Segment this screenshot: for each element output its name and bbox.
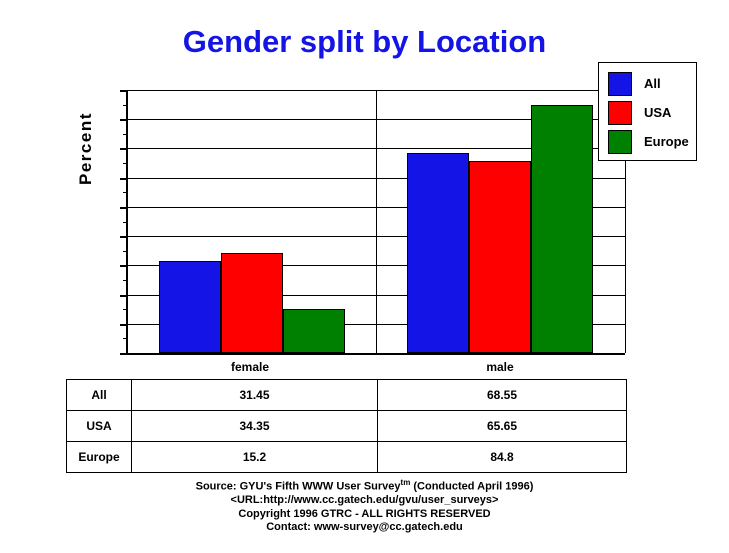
- legend-swatch-usa: [608, 101, 632, 125]
- bar-all-male[interactable]: [407, 153, 469, 353]
- table-row: Europe 15.2 84.8: [67, 442, 627, 473]
- footer-line-source: Source: GYU's Fifth WWW User Surveytm (C…: [0, 476, 729, 494]
- y-minor-tick-85: [123, 105, 128, 106]
- y-tick-90: [120, 90, 128, 92]
- legend-item-all[interactable]: All: [608, 71, 661, 96]
- y-tick-80: [120, 119, 128, 121]
- y-minor-tick-65: [123, 163, 128, 164]
- table-cell-europe-male: 84.8: [378, 442, 627, 473]
- bar-europe-female[interactable]: [283, 309, 345, 353]
- chart-legend: All USA Europe: [598, 62, 697, 161]
- y-tick-40: [120, 236, 128, 238]
- legend-label-europe: Europe: [644, 134, 689, 149]
- y-minor-tick-15: [123, 309, 128, 310]
- table-row-header-all: All: [67, 380, 132, 411]
- footer-line-contact: Contact: www-survey@cc.gatech.edu: [0, 521, 729, 535]
- category-divider: [376, 90, 377, 353]
- chart-plot-area: 0102030405060708090 Percent: [126, 90, 625, 355]
- y-minor-tick-25: [123, 280, 128, 281]
- y-minor-tick-5: [123, 338, 128, 339]
- table-cell-all-male: 68.55: [378, 380, 627, 411]
- legend-item-usa[interactable]: USA: [608, 100, 671, 125]
- table-cell-usa-female: 34.35: [132, 411, 378, 442]
- table-cell-usa-male: 65.65: [378, 411, 627, 442]
- table-row: USA 34.35 65.65: [67, 411, 627, 442]
- table-cell-europe-female: 15.2: [132, 442, 378, 473]
- y-minor-tick-75: [123, 134, 128, 135]
- y-tick-30: [120, 265, 128, 267]
- legend-swatch-europe: [608, 130, 632, 154]
- table-row-header-usa: USA: [67, 411, 132, 442]
- y-tick-20: [120, 295, 128, 297]
- bar-europe-male[interactable]: [531, 105, 593, 353]
- legend-swatch-all: [608, 72, 632, 96]
- y-tick-0: [120, 353, 128, 355]
- y-minor-tick-35: [123, 251, 128, 252]
- footer-source-post: (Conducted April 1996): [410, 481, 533, 493]
- footer-line-url: <URL:http://www.cc.gatech.edu/gvu/user_s…: [0, 494, 729, 508]
- table-cell-all-female: 31.45: [132, 380, 378, 411]
- footer-line-copyright: Copyright 1996 GTRC - ALL RIGHTS RESERVE…: [0, 508, 729, 522]
- y-axis-label: Percent: [76, 112, 96, 185]
- data-table: All 31.45 68.55 USA 34.35 65.65 Europe 1…: [66, 379, 627, 473]
- table-row-header-europe: Europe: [67, 442, 132, 473]
- y-minor-tick-45: [123, 222, 128, 223]
- y-tick-50: [120, 207, 128, 209]
- y-minor-tick-55: [123, 192, 128, 193]
- legend-item-europe[interactable]: Europe: [608, 129, 689, 154]
- footer-trademark: tm: [401, 478, 411, 487]
- y-tick-60: [120, 178, 128, 180]
- footer-source-pre: Source: GYU's Fifth WWW User Survey: [196, 481, 401, 493]
- table-row: All 31.45 68.55: [67, 380, 627, 411]
- legend-label-usa: USA: [644, 105, 671, 120]
- bar-all-female[interactable]: [159, 261, 221, 353]
- bar-usa-male[interactable]: [469, 161, 531, 353]
- bar-usa-female[interactable]: [221, 253, 283, 353]
- legend-label-all: All: [644, 76, 661, 91]
- page-title: Gender split by Location: [0, 24, 729, 60]
- y-tick-10: [120, 324, 128, 326]
- footer: Source: GYU's Fifth WWW User Surveytm (C…: [0, 476, 729, 535]
- x-axis-label-female: female: [190, 360, 310, 374]
- x-axis-label-male: male: [440, 360, 560, 374]
- y-tick-70: [120, 148, 128, 150]
